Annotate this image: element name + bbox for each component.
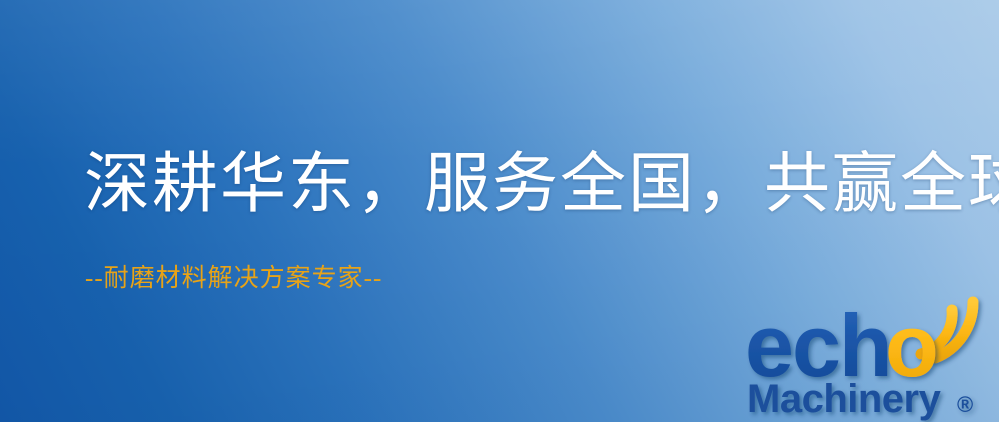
hero-banner: 深耕华东，服务全国，共赢全球 --耐磨材料解决方案专家-- bbox=[0, 0, 999, 422]
banner-subtitle: --耐磨材料解决方案专家-- bbox=[85, 266, 382, 291]
logo-tagline: Machinery bbox=[747, 377, 942, 421]
echo-machinery-logo[interactable]: ech o Machinery ® bbox=[745, 292, 995, 422]
registered-mark-icon: ® bbox=[957, 392, 973, 417]
banner-headline: 深耕华东，服务全国，共赢全球 bbox=[84, 152, 999, 218]
